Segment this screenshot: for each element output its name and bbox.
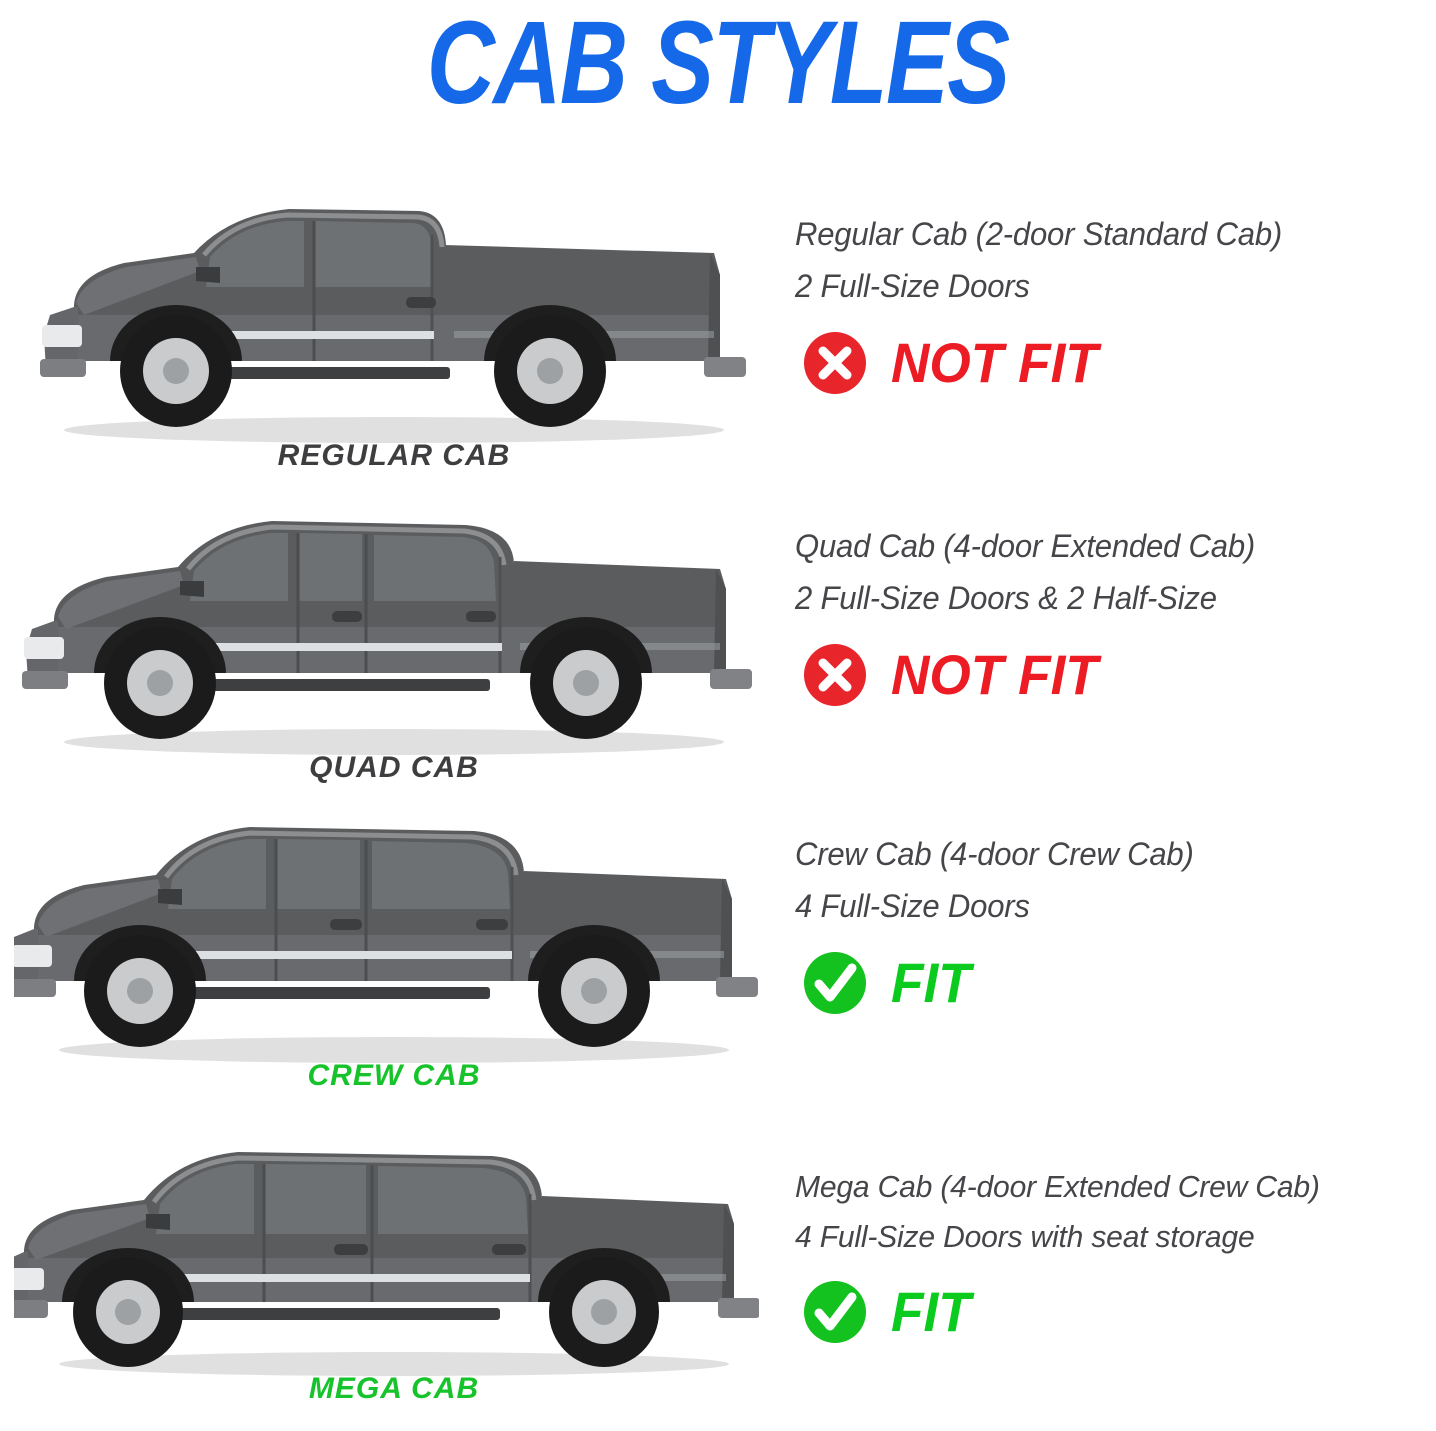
truck-illustration-quad: QUAD CAB: [14, 487, 774, 785]
status-label-quad: NOT FIT: [891, 647, 1098, 703]
status-badge-regular: NOT FIT: [801, 329, 1436, 397]
truck-caption-crew: CREW CAB: [14, 1059, 774, 1093]
status-badge-crew: FIT: [801, 949, 1436, 1017]
page-title: CAB STYLES: [427, 4, 1009, 122]
cab-title-regular: Regular Cab (2-door Standard Cab): [795, 209, 1417, 261]
cab-info-quad: Quad Cab (4-door Extended Cab) 2 Full-Si…: [795, 521, 1436, 709]
red-x-circle-icon: [801, 641, 869, 709]
cab-info-mega: Mega Cab (4-door Extended Crew Cab) 4 Fu…: [795, 1162, 1436, 1346]
truck-illustration-regular: REGULAR CAB: [14, 175, 774, 473]
page-title-container: CAB STYLES: [0, 0, 1436, 126]
cab-row-quad: QUAD CAB Quad Cab (4-door Extended Cab) …: [0, 487, 1436, 812]
status-label-regular: NOT FIT: [891, 335, 1098, 391]
cab-info-regular: Regular Cab (2-door Standard Cab) 2 Full…: [795, 209, 1436, 397]
status-label-mega: FIT: [891, 1284, 971, 1340]
cab-title-crew: Crew Cab (4-door Crew Cab): [795, 829, 1417, 881]
mega-cab-truck-icon: [14, 1128, 759, 1378]
status-badge-quad: NOT FIT: [801, 641, 1436, 709]
red-x-circle-icon: [801, 329, 869, 397]
status-badge-mega: FIT: [801, 1278, 1436, 1346]
cab-info-crew: Crew Cab (4-door Crew Cab) 4 Full-Size D…: [795, 829, 1436, 1017]
cab-subtitle-quad: 2 Full-Size Doors & 2 Half-Size: [795, 573, 1417, 625]
quad-cab-truck-icon: [14, 487, 759, 757]
cab-styles-infographic: CAB STYLES: [0, 0, 1436, 1431]
cab-subtitle-mega: 4 Full-Size Doors with seat storage: [795, 1212, 1417, 1262]
truck-illustration-crew: CREW CAB: [14, 795, 774, 1093]
truck-caption-regular: REGULAR CAB: [14, 439, 774, 473]
crew-cab-truck-icon: [14, 795, 759, 1065]
regular-cab-truck-icon: [14, 175, 759, 445]
status-label-crew: FIT: [891, 955, 971, 1011]
cab-title-quad: Quad Cab (4-door Extended Cab): [795, 521, 1417, 573]
green-check-circle-icon: [801, 949, 869, 1017]
truck-caption-quad: QUAD CAB: [14, 751, 774, 785]
cab-row-mega: MEGA CAB Mega Cab (4-door Extended Crew …: [0, 1128, 1436, 1431]
cab-subtitle-regular: 2 Full-Size Doors: [795, 261, 1417, 313]
truck-caption-mega: MEGA CAB: [14, 1372, 774, 1406]
cab-subtitle-crew: 4 Full-Size Doors: [795, 881, 1417, 933]
cab-row-crew: CREW CAB Crew Cab (4-door Crew Cab) 4 Fu…: [0, 795, 1436, 1140]
truck-illustration-mega: MEGA CAB: [14, 1128, 774, 1406]
green-check-circle-icon: [801, 1278, 869, 1346]
cab-row-regular: REGULAR CAB Regular Cab (2-door Standard…: [0, 175, 1436, 500]
cab-title-mega: Mega Cab (4-door Extended Crew Cab): [795, 1162, 1417, 1212]
